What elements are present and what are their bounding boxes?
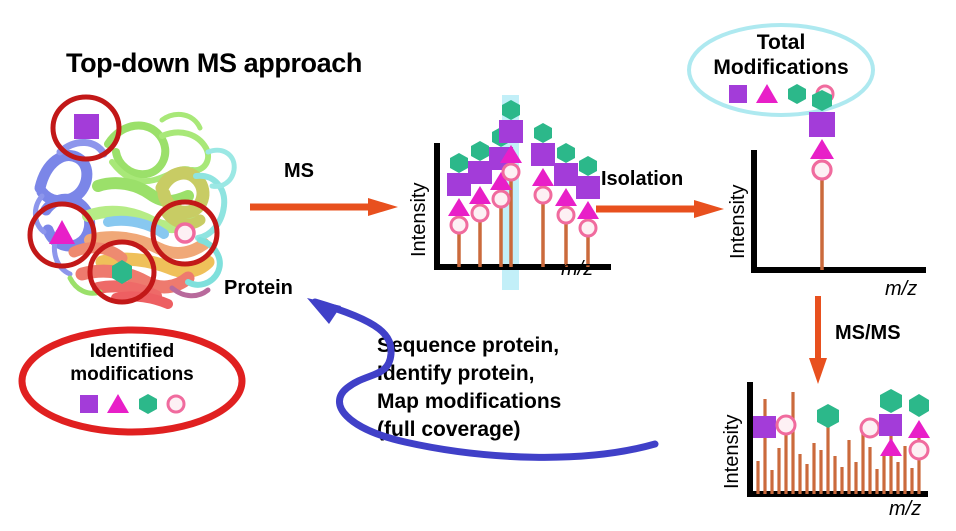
precursor-y-axis-label: Intensity — [408, 183, 431, 257]
fragment-symbol-hexagon-3 — [909, 394, 929, 417]
fragment-symbol-circle-3 — [910, 441, 928, 459]
msms-x-axis-label: m/z — [889, 498, 921, 521]
isolation-arrow-label: Isolation — [601, 168, 683, 191]
feedback-arrow — [285, 292, 670, 467]
precursor-ms-spectrum — [398, 95, 633, 290]
msms-y-axis-label: Intensity — [721, 415, 744, 489]
legend-hexagon — [139, 394, 157, 414]
msms-arrow-label: MS/MS — [835, 322, 901, 345]
precursor-x-axis-label: m/z — [561, 258, 593, 281]
legend-triangle — [756, 84, 778, 103]
identified-modifications-title: Identified modifications — [22, 340, 242, 386]
identified-title-line-2: modifications — [22, 363, 242, 386]
ms-arrow — [250, 196, 400, 218]
protein-modification-sites — [12, 92, 247, 310]
legend-square — [80, 395, 98, 413]
msms-arrow — [806, 296, 830, 384]
total-modifications-title: Total Modifications — [691, 30, 871, 80]
fragment-symbol-circle — [777, 416, 795, 434]
fragment-symbol-hexagon — [817, 404, 839, 428]
mod-symbol-circle — [176, 224, 194, 242]
mod-symbol-triangle — [49, 220, 75, 244]
axes — [754, 150, 926, 270]
legend-hexagon — [788, 84, 806, 104]
fragment-symbol-hexagon-2 — [880, 389, 902, 413]
ms-arrow-label: MS — [284, 160, 314, 183]
fragment-symbol-circle-2 — [861, 419, 879, 437]
isolated-x-axis-label: m/z — [885, 278, 917, 301]
total-title-line-2: Modifications — [691, 55, 871, 80]
total-title-line-1: Total — [691, 30, 871, 55]
identified-title-line-1: Identified — [22, 340, 242, 363]
fragment-symbol-square — [753, 416, 776, 438]
identified-modifications-symbols — [78, 392, 188, 416]
protein-label: Protein — [224, 277, 293, 300]
mod-symbol-square — [74, 114, 99, 139]
fragment-symbol-triangle — [880, 438, 902, 456]
fragment-symbol-square-2 — [879, 414, 902, 436]
isolated-precursor-spectrum — [718, 108, 943, 293]
legend-square — [729, 85, 747, 103]
fragment-symbol-triangle-2 — [908, 420, 930, 438]
mod-symbol-hexagon — [112, 260, 132, 284]
isolation-arrow — [596, 198, 726, 220]
legend-triangle — [107, 394, 129, 413]
legend-circle — [168, 396, 184, 412]
page-title: Top-down MS approach — [66, 48, 362, 79]
isolated-y-axis-label: Intensity — [727, 185, 750, 259]
